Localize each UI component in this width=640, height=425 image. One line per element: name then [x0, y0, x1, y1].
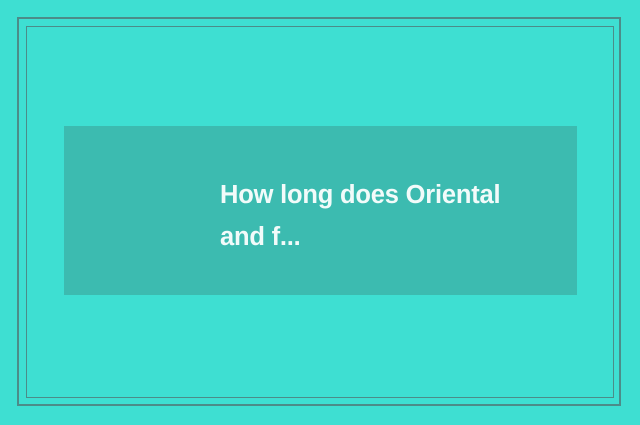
question-title: How long does Oriental and f... — [220, 174, 520, 258]
content-panel: How long does Oriental and f... — [64, 126, 577, 295]
screenshot-canvas: How long does Oriental and f... — [0, 0, 640, 425]
